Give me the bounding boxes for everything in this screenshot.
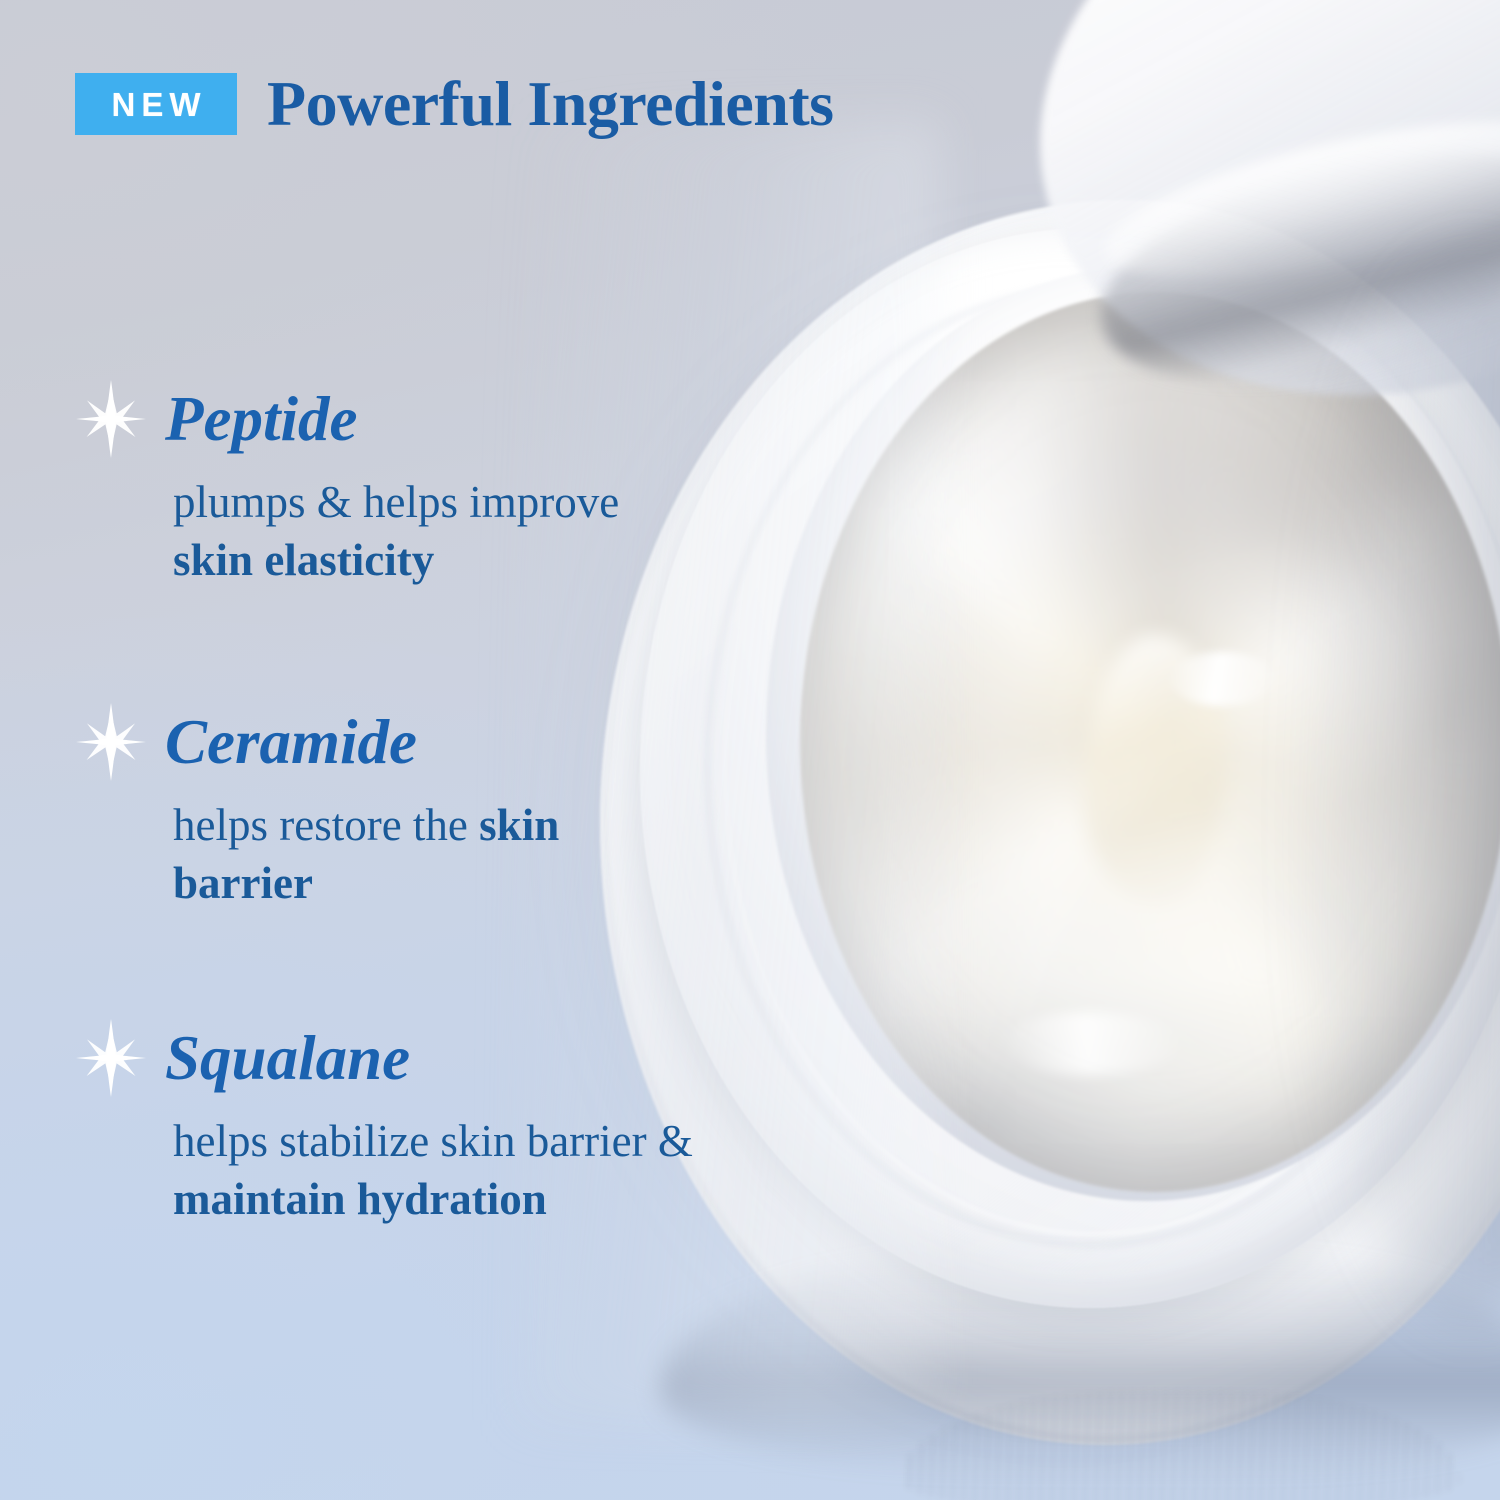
ingredient-item-ceramide: Ceramide helps restore the skin barrier (75, 701, 695, 912)
ingredient-list: Peptide plumps & helps improve skin elas… (75, 378, 695, 1229)
new-badge: NEW (75, 73, 237, 135)
ingredient-description: helps stabilize skin barrier & maintain … (173, 1113, 695, 1228)
ingredient-name: Ceramide (165, 711, 417, 774)
sparkle-icon (75, 701, 147, 783)
product-ingredients-graphic: NEW Powerful Ingredients Peptide plumps … (0, 0, 1500, 1500)
ingredient-desc-line: barrier & (527, 1116, 693, 1166)
ingredient-name: Squalane (165, 1027, 410, 1090)
text-overlay: NEW Powerful Ingredients Peptide plumps … (0, 0, 1500, 1500)
page-title: Powerful Ingredients (267, 72, 834, 136)
ingredient-desc-line: plumps & helps improve (173, 477, 619, 527)
ingredient-heading: Peptide (75, 378, 695, 460)
sparkle-icon (75, 378, 147, 460)
ingredient-name: Peptide (165, 388, 357, 451)
ingredient-item-squalane: Squalane helps stabilize skin barrier & … (75, 1017, 695, 1228)
sparkle-icon (75, 1017, 147, 1099)
ingredient-desc-bold: maintain (173, 1174, 346, 1224)
ingredient-heading: Squalane (75, 1017, 695, 1099)
ingredient-description: plumps & helps improve skin elasticity (173, 474, 695, 589)
ingredient-desc-line: helps stabilize skin (173, 1116, 515, 1166)
ingredient-item-peptide: Peptide plumps & helps improve skin elas… (75, 378, 695, 589)
ingredient-desc-line: helps restore the (173, 800, 468, 850)
header: NEW Powerful Ingredients (75, 72, 834, 136)
ingredient-desc-bold: hydration (357, 1174, 547, 1224)
ingredient-description: helps restore the skin barrier (173, 797, 695, 912)
ingredient-heading: Ceramide (75, 701, 695, 783)
ingredient-desc-bold: skin elasticity (173, 535, 434, 585)
